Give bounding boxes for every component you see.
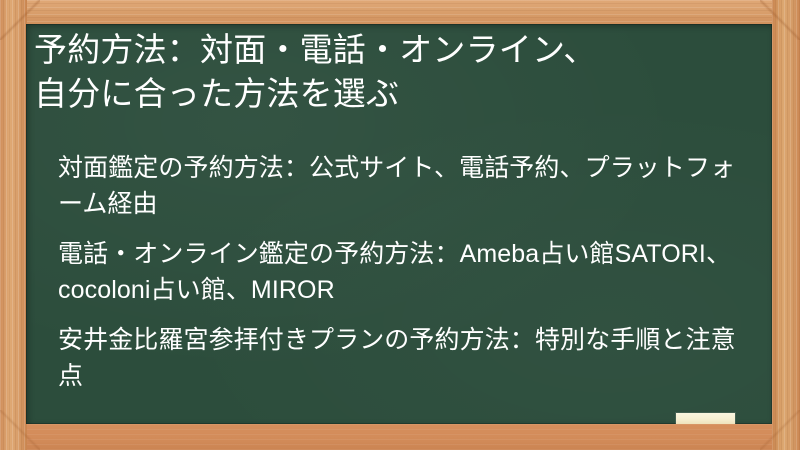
frame-rail-right — [772, 0, 800, 450]
board-title: 予約方法：対面・電話・オンライン、 自分に合った方法を選ぶ — [34, 28, 750, 116]
frame-rail-top — [0, 0, 800, 26]
list-item: 電話・オンライン鑑定の予約方法：Ameba占い館SATORI、cocoloni占… — [58, 236, 752, 308]
board-item-list: 対面鑑定の予約方法：公式サイト、電話予約、プラットフォーム経由 電話・オンライン… — [58, 150, 752, 394]
chalk-stick-icon — [676, 413, 735, 424]
list-item: 対面鑑定の予約方法：公式サイト、電話予約、プラットフォーム経由 — [58, 150, 752, 222]
frame-rail-left — [0, 0, 27, 450]
frame-rail-bottom — [0, 424, 800, 450]
chalkboard-surface: 予約方法：対面・電話・オンライン、 自分に合った方法を選ぶ 対面鑑定の予約方法：… — [26, 24, 772, 424]
chalkboard-wooden-frame: 予約方法：対面・電話・オンライン、 自分に合った方法を選ぶ 対面鑑定の予約方法：… — [0, 0, 800, 450]
list-item: 安井金比羅宮参拝付きプランの予約方法：特別な手順と注意点 — [58, 322, 752, 394]
